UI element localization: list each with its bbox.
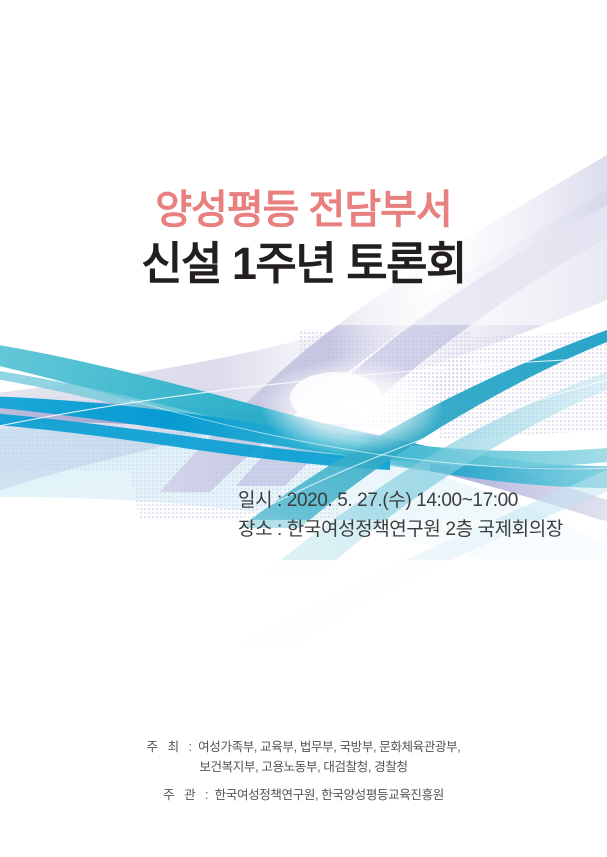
- organizer-agencies-1: 한국여성정책연구원, 한국양성평등교육진흥원: [215, 788, 444, 802]
- organizers-footer: 주 최 : 여성가족부, 교육부, 법무부, 국방부, 문화체육관광부, 보건복…: [0, 737, 607, 805]
- poster-headline: 양성평등 전담부서 신설 1주년 토론회: [0, 188, 607, 290]
- host-agencies-2: 보건복지부, 고용노동부, 대검찰청, 경찰청: [0, 757, 607, 777]
- organizer-line-1: 주 관 : 한국여성정책연구원, 한국양성평등교육진흥원: [0, 785, 607, 805]
- host-agencies-1: 여성가족부, 교육부, 법무부, 국방부, 문화체육관광부,: [198, 740, 460, 754]
- event-details: 일시 : 2020. 5. 27.(수) 14:00~17:00 장소 : 한국…: [238, 486, 563, 545]
- event-venue: 장소 : 한국여성정책연구원 2층 국제회의장: [238, 515, 563, 544]
- host-label: 주 최 :: [147, 740, 195, 754]
- organizer-label: 주 관 :: [163, 788, 211, 802]
- poster-canvas: 양성평등 전담부서 신설 1주년 토론회 일시 : 2020. 5. 27.(수…: [0, 0, 607, 857]
- headline-line-2: 신설 1주년 토론회: [0, 237, 607, 290]
- event-datetime: 일시 : 2020. 5. 27.(수) 14:00~17:00: [238, 486, 563, 515]
- wave-artwork: [0, 0, 607, 857]
- organizer-group: 주 관 : 한국여성정책연구원, 한국양성평등교육진흥원: [0, 785, 607, 805]
- host-group: 주 최 : 여성가족부, 교육부, 법무부, 국방부, 문화체육관광부, 보건복…: [0, 737, 607, 778]
- headline-line-1: 양성평등 전담부서: [0, 188, 607, 233]
- host-line-1: 주 최 : 여성가족부, 교육부, 법무부, 국방부, 문화체육관광부,: [0, 737, 607, 757]
